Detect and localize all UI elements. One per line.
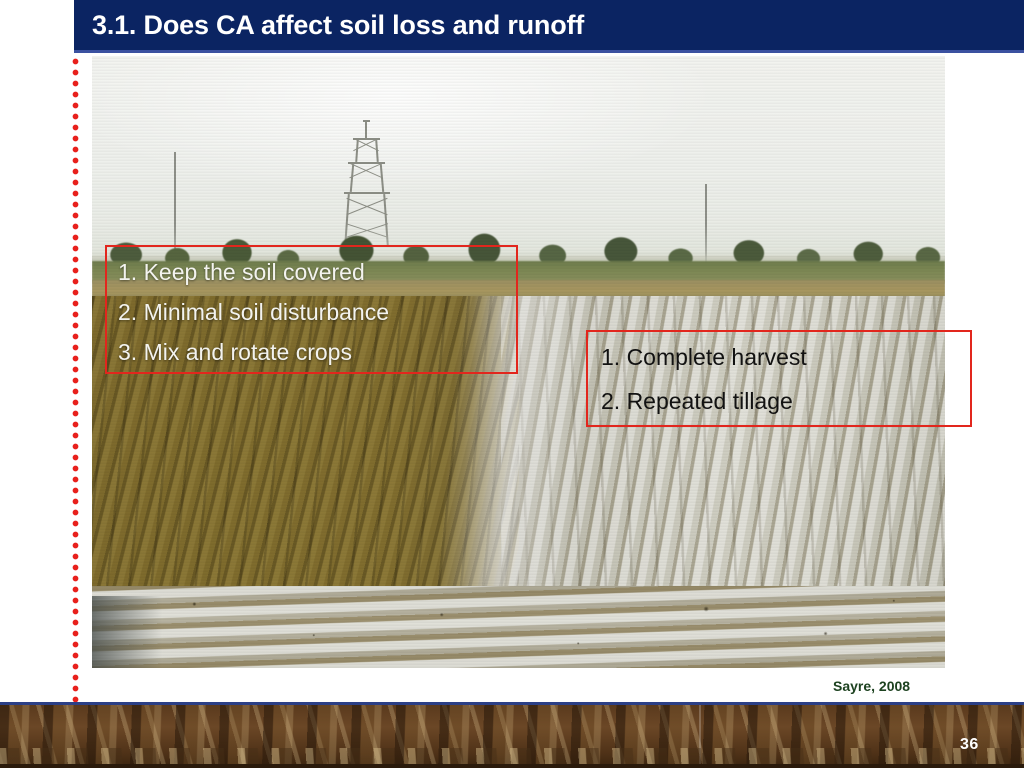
page-number: 36 [960, 736, 979, 754]
photo-foreground-clods [92, 586, 945, 668]
photo-credit: Sayre, 2008 [833, 678, 910, 694]
left-callout-line-3: 3. Mix and rotate crops [118, 332, 516, 372]
left-callout-line-2: 2. Minimal soil disturbance [118, 292, 516, 332]
right-callout-line-1: 1. Complete harvest [601, 335, 970, 379]
left-callout-line-1: 1. Keep the soil covered [118, 252, 516, 292]
conservation-agriculture-principles-callout: 1. Keep the soil covered 2. Minimal soil… [105, 245, 518, 374]
footer-straw-texture-band [0, 705, 1024, 768]
photo-foreground-shadow [92, 596, 162, 668]
left-dotted-rule-decoration [72, 58, 79, 704]
footer-baseline [0, 764, 1024, 768]
title-underline-divider [74, 50, 1024, 53]
conventional-practices-callout: 1. Complete harvest 2. Repeated tillage [586, 330, 972, 427]
page-title: 3.1. Does CA affect soil loss and runoff [74, 10, 584, 41]
right-callout-line-2: 2. Repeated tillage [601, 379, 970, 423]
slide-title-banner: 3.1. Does CA affect soil loss and runoff [74, 0, 1024, 50]
